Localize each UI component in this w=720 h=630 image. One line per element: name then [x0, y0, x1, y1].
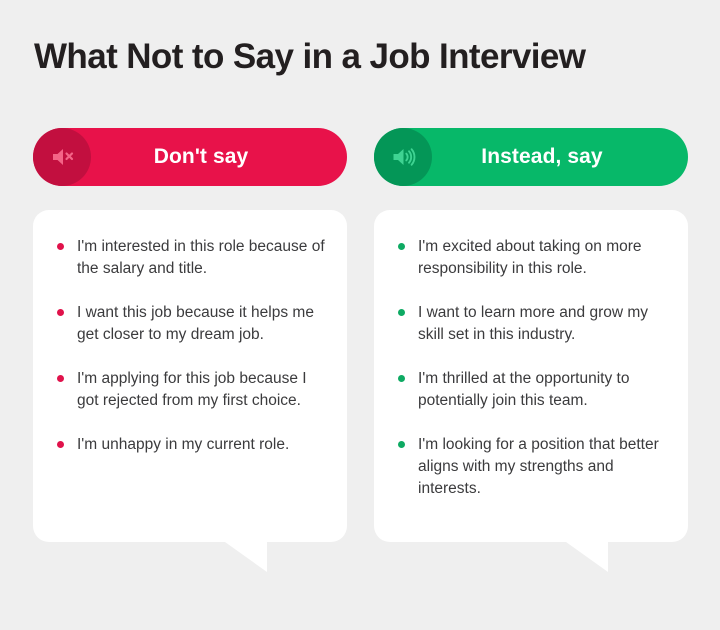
infographic-root: What Not to Say in a Job Interview Don't…	[0, 0, 720, 630]
list-item: I'm thrilled at the opportunity to poten…	[396, 368, 666, 412]
list-item: I'm applying for this job because I got …	[55, 368, 325, 412]
header-pill-dont-say: Don't say	[33, 128, 347, 186]
list-item: I'm interested in this role because of t…	[55, 236, 325, 280]
header-pill-label-dont-say: Don't say	[91, 145, 347, 169]
speech-bubble-tail	[225, 542, 267, 572]
card-instead-say: I'm excited about taking on more respons…	[374, 210, 688, 542]
bubble-wrap-instead-say: I'm excited about taking on more respons…	[374, 210, 688, 542]
list-instead-say: I'm excited about taking on more respons…	[396, 236, 666, 500]
bubble-wrap-dont-say: I'm interested in this role because of t…	[33, 210, 347, 542]
list-item: I'm unhappy in my current role.	[55, 434, 325, 456]
page-title: What Not to Say in a Job Interview	[34, 38, 694, 77]
speaker-on-icon	[374, 128, 432, 186]
header-pill-label-instead-say: Instead, say	[432, 145, 688, 169]
list-dont-say: I'm interested in this role because of t…	[55, 236, 325, 456]
speaker-mute-icon	[33, 128, 91, 186]
list-item: I want this job because it helps me get …	[55, 302, 325, 346]
column-dont-say: Don't say I'm interested in this role be…	[33, 128, 347, 542]
list-item: I'm looking for a position that better a…	[396, 434, 666, 500]
speech-bubble-tail	[566, 542, 608, 572]
card-dont-say: I'm interested in this role because of t…	[33, 210, 347, 542]
list-item: I'm excited about taking on more respons…	[396, 236, 666, 280]
column-instead-say: Instead, say I'm excited about taking on…	[374, 128, 688, 542]
list-item: I want to learn more and grow my skill s…	[396, 302, 666, 346]
header-pill-instead-say: Instead, say	[374, 128, 688, 186]
